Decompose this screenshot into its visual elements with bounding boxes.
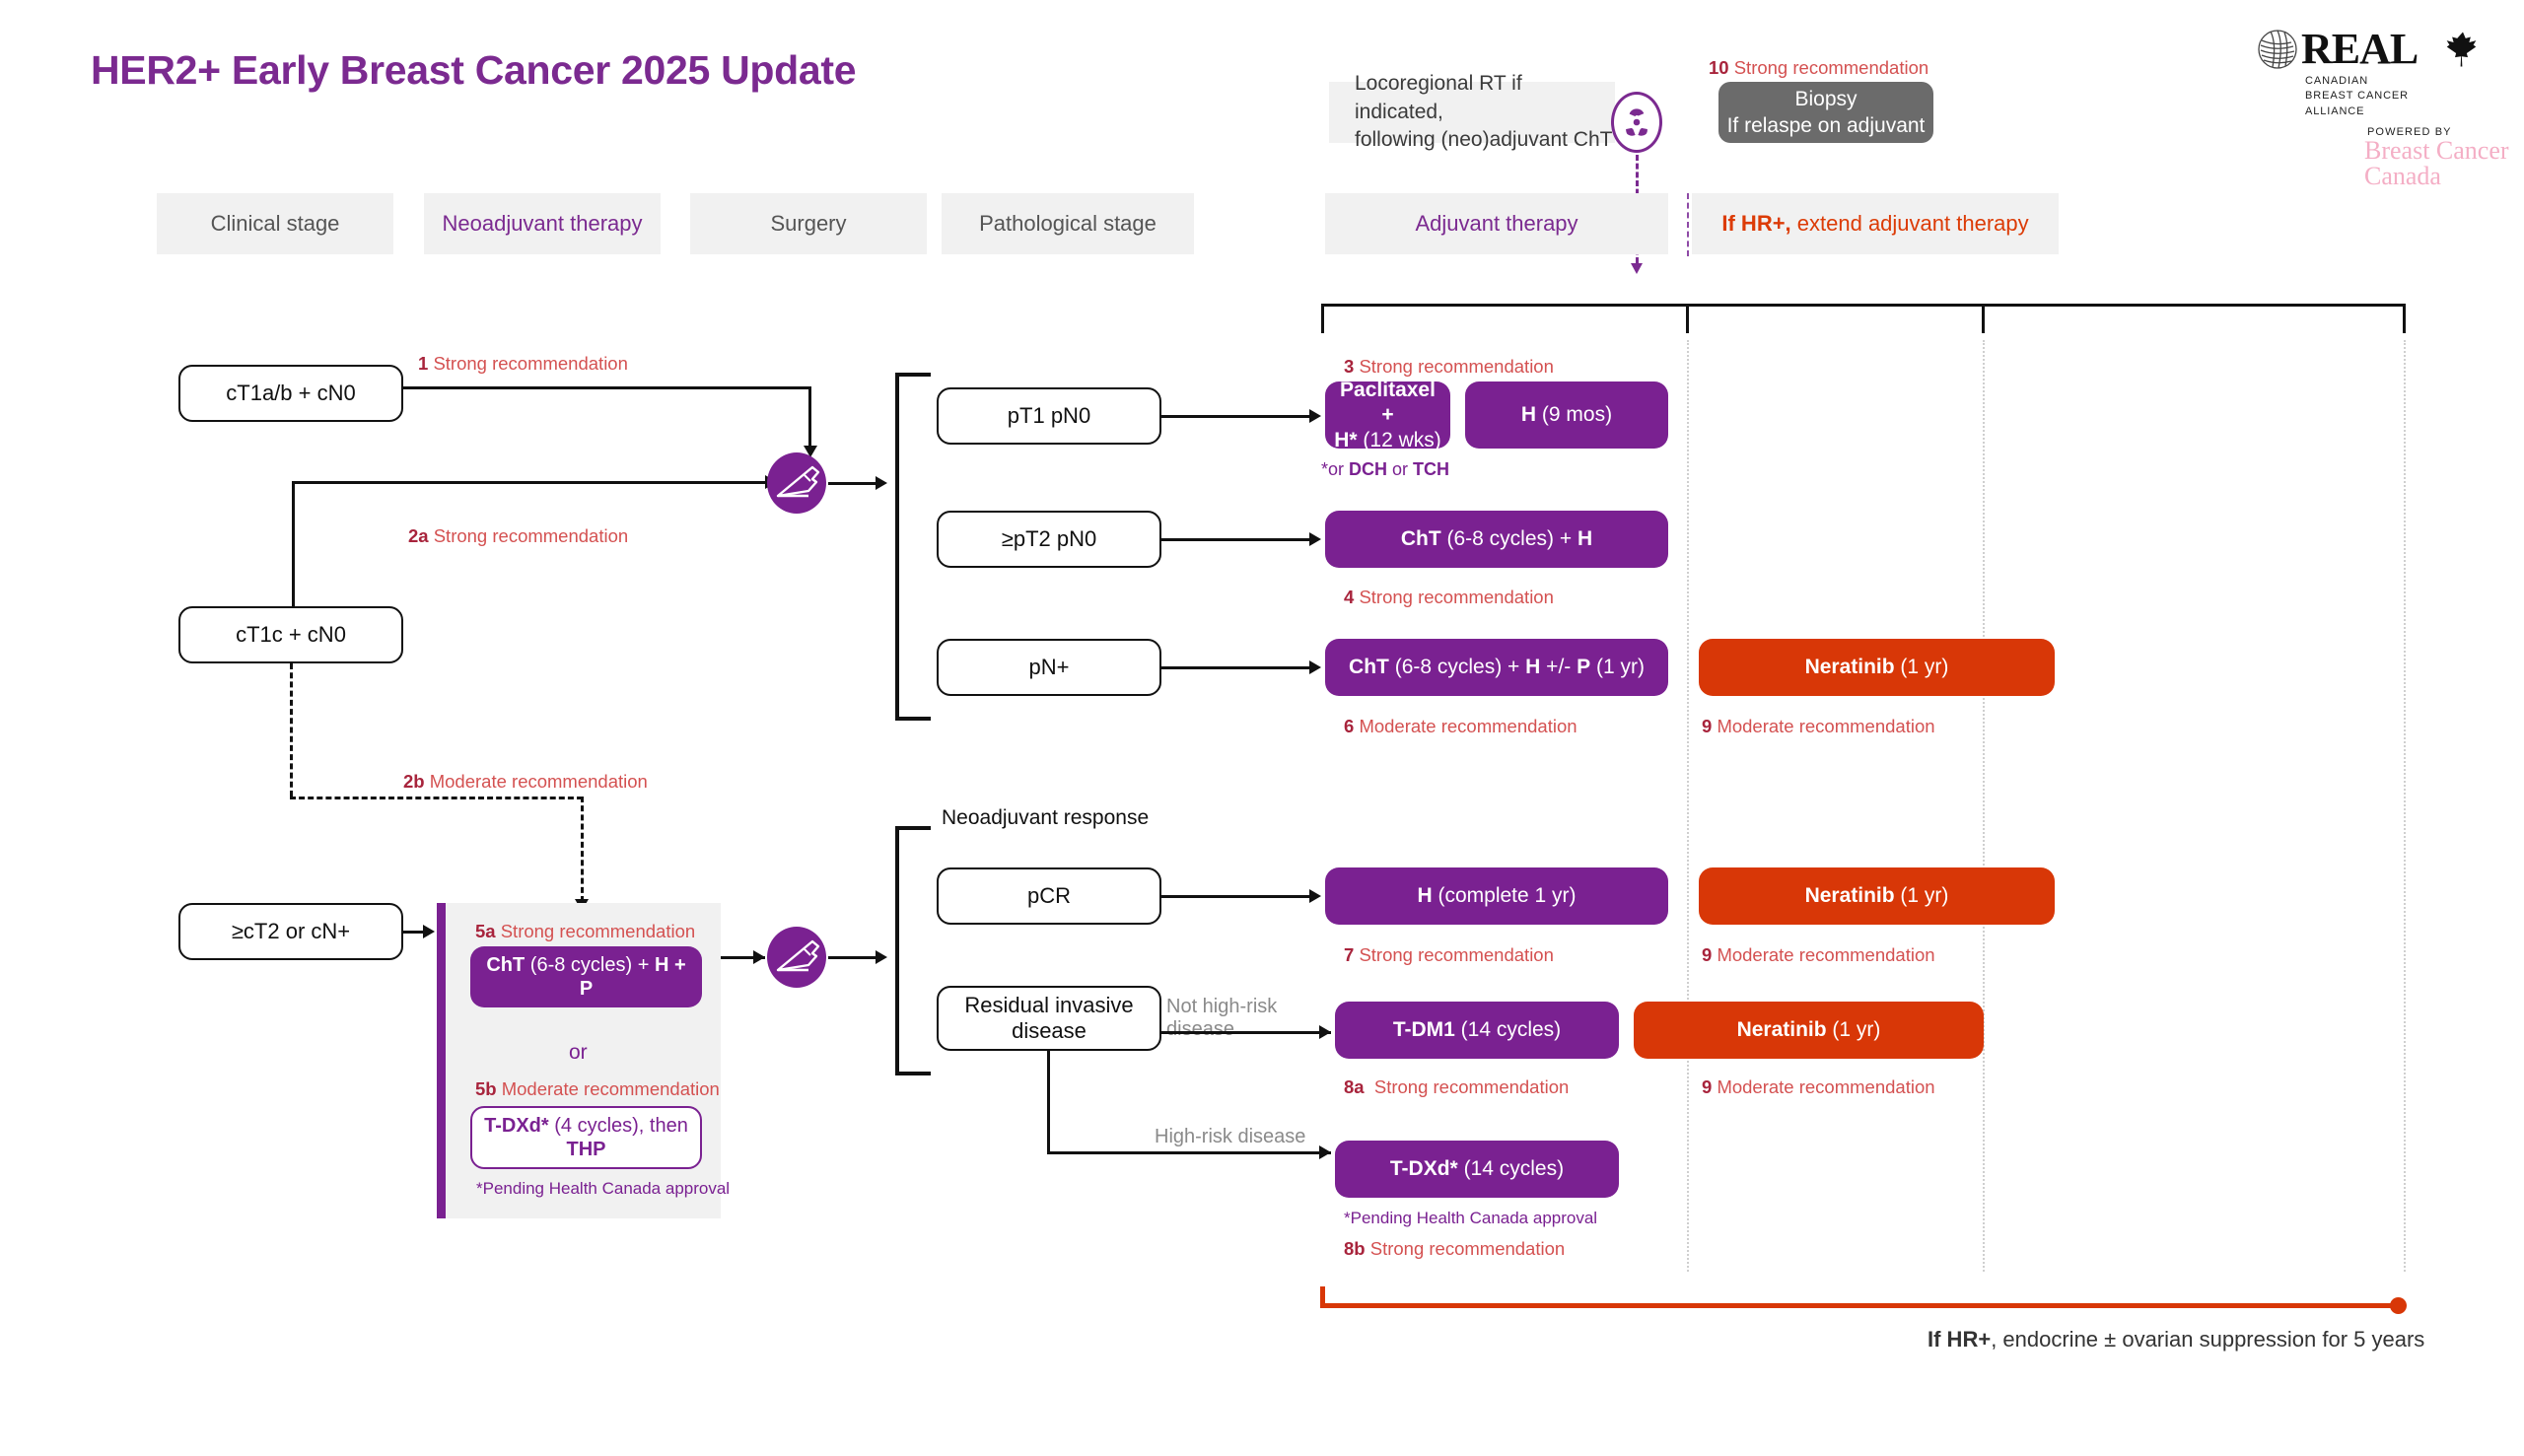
rec-8b-text: Strong recommendation <box>1370 1238 1565 1259</box>
pill-h-complete-1yr[interactable]: H (complete 1 yr) <box>1325 867 1668 925</box>
tdxd-footnote: *Pending Health Canada approval <box>1344 1209 1597 1228</box>
rec-2a-number: 2a <box>408 525 429 546</box>
hrplus-strong: If HR+, <box>1721 211 1790 236</box>
pill-text: H (9 mos) <box>1521 402 1612 427</box>
edge-not-high-risk-h <box>1161 1031 1331 1034</box>
rec-5b-label: 5b Moderate recommendation <box>475 1078 720 1100</box>
rec-5b-number: 5b <box>475 1078 497 1099</box>
pill-text: ChT (6-8 cycles) + H + P <box>478 953 694 1001</box>
pill-text: ChT (6-8 cycles) + H +/- P (1 yr) <box>1349 655 1645 679</box>
rec-3-label: 3 Strong recommendation <box>1344 356 1554 378</box>
pill-text: ChT (6-8 cycles) + H <box>1401 526 1592 551</box>
pill-bold: Neratinib <box>1805 884 1895 907</box>
column-divider-1 <box>1687 340 1689 1272</box>
column-header-adjuvant-therapy: Adjuvant therapy <box>1325 193 1668 254</box>
response-box-label: pCR <box>1027 883 1071 909</box>
rec-6-text: Moderate recommendation <box>1359 716 1577 736</box>
rec-10-text: Strong recommendation <box>1734 57 1928 78</box>
stage-box-label: cT1c + cN0 <box>236 622 346 648</box>
pill-rest: (6-8 cycles) + <box>1389 656 1525 678</box>
rec-2b-text: Moderate recommendation <box>430 771 648 792</box>
rec-9-res-label: 9 Moderate recommendation <box>1702 1076 1935 1098</box>
response-box-residual-invasive-disease[interactable]: Residual invasive disease <box>937 986 1161 1051</box>
hr-footer-strong: If HR+ <box>1928 1327 1991 1352</box>
stage-box-label: pT1 pN0 <box>1008 403 1090 429</box>
rec-9-pcr-label: 9 Moderate recommendation <box>1702 944 1935 966</box>
page-title: HER2+ Early Breast Cancer 2025 Update <box>91 47 856 94</box>
pill-line2: H* (12 wks) <box>1334 428 1441 452</box>
edge-pt1-h <box>1161 415 1309 418</box>
stage-box-ct1c-cn0[interactable]: cT1c + cN0 <box>178 606 403 663</box>
stage-box-label: ≥cT2 or cN+ <box>232 919 350 944</box>
edge-ct1c-h <box>292 481 765 484</box>
stage-box-pn-plus[interactable]: pN+ <box>937 639 1161 696</box>
stage-box-pt1-pn0[interactable]: pT1 pN0 <box>937 387 1161 445</box>
pill-rest: (6-8 cycles) + <box>1441 527 1577 550</box>
real-ring-icon <box>2254 27 2301 72</box>
rec-10-number: 10 <box>1709 57 1729 78</box>
diagram-canvas: HER2+ Early Breast Cancer 2025 Update RE… <box>0 0 2524 1456</box>
pill-rest: (14 cycles) <box>1455 1018 1561 1041</box>
edge-surgery-to-path-arrow <box>876 476 887 490</box>
pill-line1: T-DXd* (4 cycles), then <box>484 1114 688 1138</box>
rec-3-number: 3 <box>1344 356 1354 377</box>
pill-bold: ChT <box>486 954 525 976</box>
hr-timeline-bar <box>1320 1303 2401 1308</box>
edge-pn-h <box>1161 666 1309 669</box>
note-dch: DCH <box>1349 459 1387 479</box>
rec-3-text: Strong recommendation <box>1359 356 1553 377</box>
pill-cht-h[interactable]: ChT (6-8 cycles) + H <box>1325 511 1668 568</box>
rec-7-text: Strong recommendation <box>1359 944 1553 965</box>
column-header-label: Neoadjuvant therapy <box>442 211 642 237</box>
edge-2b-dashed-v1 <box>290 663 293 797</box>
rec-4-text: Strong recommendation <box>1359 587 1553 607</box>
pill-tdm1[interactable]: T-DM1 (14 cycles) <box>1335 1002 1619 1059</box>
logo-word-real: REAL <box>2301 24 2418 74</box>
pill-rest2: +/- <box>1540 656 1577 678</box>
pill-bold2: H <box>1577 527 1592 550</box>
rec-4-label: 4 Strong recommendation <box>1344 587 1554 608</box>
rec-9-pn-text: Moderate recommendation <box>1717 716 1934 736</box>
pill-text: Neratinib (1 yr) <box>1805 655 1949 679</box>
rec-2b-label: 2b Moderate recommendation <box>403 771 648 793</box>
bracket-tick-2 <box>1686 304 1689 333</box>
edge-ct2-to-neo-arrow <box>423 925 435 938</box>
pill-line2-thp: THP <box>567 1138 606 1161</box>
pill-rest: (9 mos) <box>1536 403 1612 426</box>
note-tch: TCH <box>1413 459 1449 479</box>
biopsy-box[interactable]: Biopsy If relaspe on adjuvant <box>1718 82 1933 143</box>
neoadjuvant-footnote: *Pending Health Canada approval <box>476 1179 730 1199</box>
pill-neratinib-pn-plus[interactable]: Neratinib (1 yr) <box>1699 639 2055 696</box>
pill-rest: (1 yr) <box>1895 656 1949 678</box>
rec-8a-text: Strong recommendation <box>1374 1076 1569 1097</box>
pill-cht-h-p[interactable]: ChT (6-8 cycles) + H +/- P (1 yr) <box>1325 639 1668 696</box>
stage-box-ct2-cn-plus[interactable]: ≥cT2 or cN+ <box>178 903 403 960</box>
radiation-icon <box>1611 92 1662 153</box>
pill-cht-h-p-neoadjuvant[interactable]: ChT (6-8 cycles) + H + P <box>470 946 702 1007</box>
edge-pt2-h <box>1161 538 1309 541</box>
rec-9-pcr-number: 9 <box>1702 944 1712 965</box>
pathological-bracket-bottom <box>895 717 931 721</box>
bracket-tick-1 <box>1321 304 1324 333</box>
logo-real-cbca: REAL CANADIANBREAST CANCERALLIANCE POWER… <box>2254 24 2524 189</box>
hr-bar-end-dot <box>2390 1297 2407 1314</box>
response-bracket-top <box>895 826 931 830</box>
rec-1-text: Strong recommendation <box>433 353 627 374</box>
hr-footer-rest: , endocrine ± ovarian suppression for 5 … <box>1991 1327 2424 1352</box>
rec-6-label: 6 Moderate recommendation <box>1344 716 1577 737</box>
radiation-glyph <box>1620 105 1653 139</box>
edge-surgery2-to-response-arrow <box>876 950 887 964</box>
pill-text: T-DM1 (14 cycles) <box>1393 1017 1561 1042</box>
logo-subtitle: CANADIANBREAST CANCERALLIANCE <box>2305 74 2409 119</box>
rec-10-label: 10 Strong recommendation <box>1709 57 1928 79</box>
branch-label-not-high-risk: Not high-risk disease <box>1166 996 1304 1041</box>
pill-bold: T-DXd* <box>1390 1157 1458 1180</box>
maple-leaf-icon <box>2443 30 2483 69</box>
rec-7-number: 7 <box>1344 944 1354 965</box>
neoadjuvant-or-label: or <box>569 1041 588 1065</box>
rec-7-label: 7 Strong recommendation <box>1344 944 1554 966</box>
response-bracket-bottom <box>895 1072 931 1075</box>
logo-brand-bcc: Breast Cancer Canada <box>2364 138 2524 189</box>
rt-line1: Locoregional RT if indicated, <box>1355 72 1522 122</box>
pill-text: Neratinib (1 yr) <box>1805 883 1949 908</box>
neoadjuvant-response-heading: Neoadjuvant response <box>942 806 1149 830</box>
pill-h-9mos[interactable]: H (9 mos) <box>1465 381 1668 449</box>
column-header-label: Adjuvant therapy <box>1415 211 1577 237</box>
rec-9-pn-label: 9 Moderate recommendation <box>1702 716 1935 737</box>
column-header-label: Clinical stage <box>211 211 340 237</box>
column-header-surgery: Surgery <box>690 193 927 254</box>
rec-9-res-number: 9 <box>1702 1076 1712 1097</box>
hrplus-rest: extend adjuvant therapy <box>1791 211 2029 236</box>
pill-neratinib-pcr[interactable]: Neratinib (1 yr) <box>1699 867 2055 925</box>
edge-ct1ab-to-surgery-h <box>403 386 810 389</box>
locoregional-rt-chip: Locoregional RT if indicated, following … <box>1329 82 1615 143</box>
rec-2b-number: 2b <box>403 771 425 792</box>
rec-2a-text: Strong recommendation <box>434 525 628 546</box>
edge-surgery-to-path-h <box>828 482 876 485</box>
edge-2b-dashed-v2 <box>581 797 584 902</box>
column-header-label: Pathological stage <box>979 211 1157 237</box>
pill-bold: Neratinib <box>1737 1018 1827 1041</box>
hr-footer-label: If HR+, endocrine ± ovarian suppression … <box>1928 1327 2424 1352</box>
pill-bold: H <box>1417 884 1432 907</box>
stage-box-ct1ab-cn0[interactable]: cT1a/b + cN0 <box>178 365 403 422</box>
edge-high-risk-h <box>1047 1151 1331 1154</box>
rec-8a-label: 8a Strong recommendation <box>1344 1076 1569 1098</box>
edge-high-risk-arrow <box>1319 1145 1331 1159</box>
pill-paclitaxel-h[interactable]: Paclitaxel + H* (12 wks) <box>1325 381 1450 449</box>
rt-connector-arrow <box>1631 263 1643 274</box>
column-header-label-strong: If HR+, extend adjuvant therapy <box>1721 211 2028 237</box>
rec-8a-number: 8a <box>1344 1076 1365 1097</box>
rec-9-pcr-text: Moderate recommendation <box>1717 944 1934 965</box>
adjuvant-top-bracket <box>1321 304 2406 307</box>
column-header-extend-adjuvant: If HR+, extend adjuvant therapy <box>1692 193 2059 254</box>
edge-ct1ab-to-surgery-v <box>808 386 811 446</box>
pill-bold: H <box>1521 403 1536 426</box>
stage-box-label: pN+ <box>1029 655 1070 680</box>
edge-surgery2-to-response-h <box>828 956 876 959</box>
pill-bold: Neratinib <box>1805 656 1895 678</box>
pill-text: Neratinib (1 yr) <box>1737 1017 1881 1042</box>
response-bracket-v <box>895 826 899 1075</box>
pill-bold: ChT <box>1401 527 1441 550</box>
biopsy-line2: If relaspe on adjuvant <box>1727 112 1926 139</box>
rec-1-label: 1 Strong recommendation <box>418 353 628 375</box>
surgery-icon-upper[interactable] <box>765 452 828 514</box>
pill-rest: (6-8 cycles) + <box>525 954 655 976</box>
pill-bold3: P <box>1577 656 1590 678</box>
column-divider-header <box>1687 193 1689 256</box>
branch-label-high-risk: High-risk disease <box>1155 1126 1305 1148</box>
pill-rest: (1 yr) <box>1895 884 1949 907</box>
pill-line2-bold: H* <box>1334 429 1357 451</box>
edge-high-risk-v <box>1047 1051 1050 1153</box>
edge-not-high-risk-arrow <box>1319 1025 1331 1039</box>
rt-line2: following (neo)adjuvant ChT <box>1355 128 1612 151</box>
edge-pt1-arrow <box>1309 409 1321 423</box>
pill-bold2: H <box>1525 656 1540 678</box>
response-box-pcr[interactable]: pCR <box>937 867 1161 925</box>
pill-line1-bold: T-DXd* <box>484 1115 549 1137</box>
note-mid: or <box>1387 459 1413 479</box>
column-header-label: Surgery <box>770 211 846 237</box>
pill-line2-rest: (12 wks) <box>1358 429 1441 451</box>
rec-6-number: 6 <box>1344 716 1354 736</box>
note-pre: *or <box>1321 459 1349 479</box>
edge-pcr-h <box>1161 895 1309 898</box>
pathological-bracket-v <box>895 373 899 720</box>
surgery-icon-lower[interactable] <box>765 927 828 988</box>
column-header-pathological-stage: Pathological stage <box>942 193 1194 254</box>
neoadjuvant-accent-bar <box>437 903 446 1218</box>
rec-4-number: 4 <box>1344 587 1354 607</box>
edge-2b-dashed-h <box>290 797 583 799</box>
rec-2a-label: 2a Strong recommendation <box>408 525 628 547</box>
pill-neratinib-residual[interactable]: Neratinib (1 yr) <box>1634 1002 1984 1059</box>
rec-5b-text: Moderate recommendation <box>502 1078 720 1099</box>
column-header-clinical-stage: Clinical stage <box>157 193 393 254</box>
rec-5a-number: 5a <box>475 921 496 941</box>
edge-pcr-arrow <box>1309 889 1321 903</box>
edge-pn-arrow <box>1309 660 1321 674</box>
edge-neo-to-surgery-arrow <box>753 950 765 964</box>
pill-bold: T-DM1 <box>1393 1018 1455 1041</box>
stage-box-label: ≥pT2 pN0 <box>1002 526 1096 552</box>
rec-8b-label: 8b Strong recommendation <box>1344 1238 1565 1260</box>
edge-pt2-arrow <box>1309 532 1321 546</box>
pill-tdxd-14cycles[interactable]: T-DXd* (14 cycles) <box>1335 1141 1619 1198</box>
edge-ct1c-v <box>292 481 295 607</box>
rec-1-number: 1 <box>418 353 428 374</box>
pill-line1: Paclitaxel + <box>1333 378 1442 427</box>
bracket-tick-4 <box>2403 304 2406 333</box>
bracket-tick-3 <box>1982 304 1985 333</box>
pill-text: T-DXd* (14 cycles) <box>1390 1156 1564 1181</box>
biopsy-line1: Biopsy <box>1794 86 1857 112</box>
logo-wordmark-row: REAL <box>2254 24 2483 74</box>
column-divider-3 <box>2404 340 2406 1272</box>
edge-ct2-to-neo-h <box>403 931 423 934</box>
stage-box-label: cT1a/b + cN0 <box>226 381 355 406</box>
rec-8b-number: 8b <box>1344 1238 1366 1259</box>
pill-rest: (1 yr) <box>1827 1018 1881 1041</box>
paclitaxel-footnote: *or DCH or TCH <box>1321 459 1449 480</box>
pill-bold: ChT <box>1349 656 1389 678</box>
scalpel-icon <box>765 927 828 988</box>
rec-5a-label: 5a Strong recommendation <box>475 921 695 942</box>
pill-text: H (complete 1 yr) <box>1417 883 1576 908</box>
rec-9-res-text: Moderate recommendation <box>1717 1076 1934 1097</box>
pill-rest: (14 cycles) <box>1458 1157 1564 1180</box>
response-box-label: Residual invasive disease <box>939 993 1159 1044</box>
pill-tdxd-thp[interactable]: T-DXd* (4 cycles), then THP <box>470 1106 702 1169</box>
column-header-neoadjuvant-therapy: Neoadjuvant therapy <box>424 193 661 254</box>
pill-line1-rest: (4 cycles), then <box>549 1115 688 1137</box>
pill-rest3: (1 yr) <box>1590 656 1645 678</box>
rec-9-pn-number: 9 <box>1702 716 1712 736</box>
pathological-bracket-top <box>895 373 931 377</box>
pill-rest: (complete 1 yr) <box>1433 884 1577 907</box>
stage-box-pt2-pn0[interactable]: ≥pT2 pN0 <box>937 511 1161 568</box>
scalpel-icon <box>765 452 828 514</box>
column-divider-2 <box>1983 340 1985 1272</box>
rec-5a-text: Strong recommendation <box>501 921 695 941</box>
